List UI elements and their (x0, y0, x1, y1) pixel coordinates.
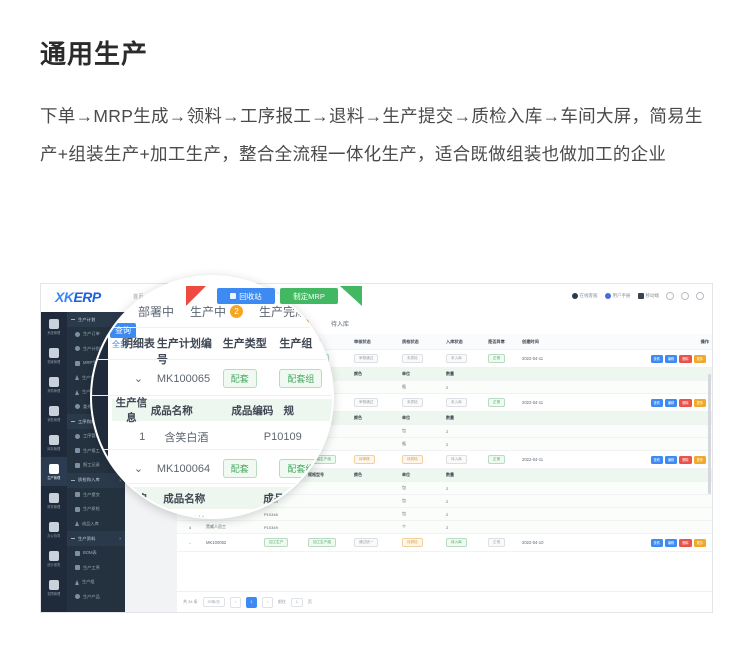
mrp-icon (75, 361, 80, 366)
lens-status-badge: 14 (311, 305, 324, 318)
next-page-button[interactable]: › (262, 597, 273, 608)
pagination: 共 34 条 20条/页 ‹ 1 › 前往 1 页 (177, 591, 712, 612)
cell-qc: 未质检 (402, 354, 423, 363)
lens-detail-code: P10109 (244, 431, 332, 443)
outsource-icon (75, 404, 80, 409)
detail-unit: 个 (399, 524, 443, 530)
lens-table-header: 明细表 生产计划编号 生产类型 生产组 (120, 335, 332, 367)
lens-tab-label: 生产完成 (259, 303, 307, 320)
detail-qty: 2 (443, 442, 485, 447)
menu-item-label: 生产产品 (83, 594, 100, 600)
lens-sub-info: 信息 (112, 491, 163, 506)
topbar-actions: 在线客服 用户手册 移动端 (572, 292, 705, 300)
detail-code: P10349 (261, 525, 305, 530)
lens-detail-row: 1 含笑白酒 P10109 (120, 429, 332, 445)
rail-item-permission[interactable]: 权限管理 (41, 573, 67, 602)
col-stock: 入库状态 (443, 339, 485, 345)
cell-qc: 待质检 (402, 538, 423, 547)
rail-item-inventory[interactable]: 库存管理 (41, 428, 67, 457)
doc-icon (49, 522, 59, 532)
user-icon[interactable] (696, 292, 704, 300)
lens-cell-type: 配套 (223, 459, 257, 478)
cell-abnormal: 正常 (488, 538, 505, 547)
grid-icon (49, 348, 59, 358)
detail-qty: 2 (443, 486, 485, 491)
detail-qty: 2 (443, 525, 485, 530)
delete-button[interactable]: 删除 (679, 456, 691, 464)
row-actions: 查看 编辑 删除 更多 (577, 355, 712, 363)
product-icon (75, 594, 80, 599)
detail-unit: 包 (399, 498, 443, 504)
menu-item-group[interactable]: 生产组 (67, 575, 125, 590)
collapse-icon (71, 421, 75, 422)
lens-cell-type: 配套 (223, 369, 257, 388)
menu-item-label: 生产工序 (83, 565, 100, 571)
lens-tab-completed[interactable]: 生产完成14 (259, 303, 324, 320)
chat-icon (49, 406, 59, 416)
cell-stock: 未入库 (446, 398, 467, 407)
cell-code: MK100052 (203, 540, 261, 545)
lens-tab-deploying[interactable]: 部署中 (138, 303, 174, 320)
sub-col-qty: 数量 (443, 415, 485, 421)
refresh-icon[interactable] (666, 292, 674, 300)
sub-col-qty: 数量 (443, 472, 485, 478)
cell-stock: 待入库 (446, 455, 467, 464)
trash-icon (230, 293, 236, 299)
logo-xk: XK (55, 289, 73, 305)
page-title: 通用生产 (40, 34, 710, 71)
submit-icon (75, 492, 80, 497)
menu-group-label: 生产资料 (78, 536, 96, 542)
promo-description: 下单→MRP生成→领料→工序报工→退料→生产提交→质检入库→车间大屏，简易生产+… (40, 97, 712, 173)
create-mrp-label: 制定MRP (293, 291, 325, 302)
recycle-bin-button[interactable]: 回收站 (217, 288, 275, 304)
lens-col-code: 生产计划编号 (157, 335, 223, 367)
col-qc: 质检状态 (399, 339, 443, 345)
arrow-left-decoration (186, 286, 206, 306)
sub-col-color: 颜色 (351, 472, 399, 478)
support-button[interactable]: 在线客服 (572, 293, 598, 299)
lens-sub-info: 生产信息 (112, 395, 151, 425)
menu-item-bom[interactable]: BOM表 (67, 546, 125, 561)
lens-col-type: 生产类型 (223, 335, 280, 367)
detail-unit: 包 (399, 485, 443, 491)
prev-page-button[interactable]: ‹ (230, 597, 241, 608)
lens-tabs: 部署中 生产中2 生产完成14 待入 (138, 303, 334, 320)
cell-qc: 待质检 (402, 455, 423, 464)
cart-icon (49, 377, 59, 387)
rail-label: 生产管理 (48, 475, 61, 480)
edit-button[interactable]: 编辑 (665, 539, 677, 547)
lens-detail-name: 含笑白酒 (164, 429, 243, 445)
lens-cell-code: MK100064 (157, 463, 223, 475)
mobile-label: 移动端 (646, 293, 660, 299)
sub-col-unit: 单位 (399, 371, 443, 377)
more-button[interactable]: 更多 (694, 539, 706, 547)
wallet-icon (49, 493, 59, 503)
page-size-select[interactable]: 20条/页 (203, 597, 225, 607)
rail-item-office[interactable]: 办公协同 (41, 515, 67, 544)
detail-unit: 包 (399, 428, 443, 434)
chart-icon (49, 551, 59, 561)
create-mrp-button[interactable]: 制定MRP (280, 288, 338, 304)
lens-sub-code: 成品编码 (211, 403, 283, 418)
row-actions: 查看 编辑 删除 更多 (577, 456, 712, 464)
lens-expand-icon[interactable]: ⌄ (120, 462, 157, 475)
return-icon (75, 390, 79, 395)
cell-audit: 通过统一 (354, 538, 378, 547)
rail-item-finance[interactable]: 财务管理 (41, 486, 67, 515)
menu-item-product[interactable]: 生产产品 (67, 590, 125, 605)
col-audit: 审核状态 (351, 339, 399, 345)
expand-icon[interactable]: ⌄ (177, 540, 203, 546)
sub-col-color: 颜色 (351, 371, 399, 377)
detail-qty: 2 (443, 512, 485, 517)
lens-sub-name: 成品名称 (151, 403, 212, 418)
rail-item-system[interactable]: 系统管理 (41, 312, 67, 341)
cell-type: 加工生产 (264, 538, 288, 547)
lens-tab-label: 部署中 (138, 303, 174, 320)
detail-row: 4 黑威人员工 P10349 个 2 (177, 521, 712, 534)
goto-label: 前往 (278, 599, 286, 605)
pick-icon (75, 375, 79, 380)
lens-rail (92, 277, 108, 517)
view-button[interactable]: 查看 (651, 399, 663, 407)
mobile-icon (638, 293, 644, 299)
view-button[interactable]: 查看 (651, 355, 663, 363)
promo-section: 通用生产 下单→MRP生成→领料→工序报工→退料→生产提交→质检入库→车间大屏，… (0, 0, 750, 173)
detail-unit: 包 (399, 511, 443, 517)
sub-col-unit: 单位 (399, 472, 443, 478)
collapse-icon (71, 480, 75, 481)
menu-item-label: BOM表 (83, 550, 97, 556)
cell-audit: 审核通过 (354, 354, 378, 363)
lens-detail-header: 生产信息 成品名称 成品编码 规 (112, 399, 332, 421)
edit-button[interactable]: 编辑 (665, 355, 677, 363)
col-time: 创建时间 (519, 339, 577, 345)
table-row[interactable]: ⌄ MK100052 加工生产 加工生产组 通过统一 待质检 待入库 正常 20… (177, 534, 712, 552)
lens-col-detail: 明细表 (120, 335, 157, 367)
rail-label: 权限管理 (48, 591, 61, 596)
icon-rail: 系统管理 档案管理 采购管理 销售管理 库存管理 生产管理 财务管理 办公协同 … (41, 312, 67, 612)
detail-qty: 2 (443, 499, 485, 504)
record-icon (75, 463, 80, 468)
lens-table-row[interactable]: ⌄ MK100064 配套 配套组 (120, 459, 332, 478)
rail-label: 财务管理 (48, 504, 61, 509)
bom-icon (75, 551, 80, 556)
detail-name: 黑威人员工 (203, 524, 261, 530)
cell-abnormal: 正常 (488, 398, 505, 407)
key-icon (49, 580, 59, 590)
edit-button[interactable]: 编辑 (665, 399, 677, 407)
view-button[interactable]: 查看 (651, 456, 663, 464)
cell-stock: 未入库 (446, 354, 467, 363)
edit-button[interactable]: 编辑 (665, 456, 677, 464)
lens-sub-name: 成品名称 (163, 491, 243, 506)
detail-unit: 瓶 (399, 384, 443, 390)
manual-button[interactable]: 用户手册 (605, 293, 631, 299)
cell-audit: 待审核 (354, 455, 375, 464)
rail-label: 销售管理 (48, 417, 61, 422)
box-icon (49, 435, 59, 445)
sub-col-unit: 单位 (399, 415, 443, 421)
collapse-icon (71, 319, 75, 320)
rail-label: 系统管理 (48, 330, 61, 335)
sub-col-qty: 数量 (443, 371, 485, 377)
mobile-button[interactable]: 移动端 (638, 293, 660, 299)
support-label: 在线客服 (580, 293, 598, 299)
rail-item-purchase[interactable]: 采购管理 (41, 370, 67, 399)
lens-sub-spec: 规 (284, 403, 332, 418)
lens-cell-code: MK100065 (157, 373, 223, 385)
instock-icon (75, 521, 79, 526)
menu-item-instock[interactable]: 成品入库 (67, 517, 125, 532)
cell-abnormal: 正常 (488, 455, 505, 464)
lens-content: 查询 全部 部署中 生产中2 生产完成14 待入 明细表 生产计划编号 生产类型… (92, 277, 332, 517)
lens-detail-header: 信息 成品名称 成品编码 (112, 487, 332, 509)
plan-icon (75, 346, 80, 351)
cell-audit: 审核通过 (354, 398, 378, 407)
goto-input[interactable]: 1 (291, 598, 303, 607)
menu-item-label: 生产组 (82, 579, 95, 585)
gears-icon (49, 464, 59, 474)
recycle-bin-label: 回收站 (239, 291, 262, 302)
chevron-down-icon: › (119, 536, 121, 541)
lens-table-row[interactable]: ⌄ MK100065 配套 配套组 (120, 369, 332, 388)
magnifier-lens: 查询 全部 部署中 生产中2 生产完成14 待入 明细表 生产计划编号 生产类型… (90, 275, 334, 519)
menu-item-proc-list[interactable]: 生产工序 (67, 561, 125, 576)
cell-time: 2022-04-11 (519, 400, 577, 405)
tab-label: 待入库 (331, 319, 349, 328)
process-icon (75, 434, 80, 439)
headset-icon (572, 293, 578, 299)
view-button[interactable]: 查看 (651, 539, 663, 547)
rail-item-report[interactable]: 统计报表 (41, 544, 67, 573)
lens-status-badge: 2 (230, 305, 243, 318)
rail-item-sales[interactable]: 销售管理 (41, 399, 67, 428)
rail-item-production[interactable]: 生产管理 (41, 457, 67, 486)
col-actions: 操作 (577, 339, 712, 345)
lens-cell-group: 配套组 (279, 369, 322, 388)
lens-sub-code: 成品编码 (243, 491, 332, 506)
cell-group: 加工生产组 (308, 538, 336, 547)
cell-abnormal: 正常 (488, 354, 505, 363)
order-icon (75, 332, 80, 337)
reportwork-icon (75, 448, 80, 453)
detail-no: 4 (177, 525, 203, 530)
rail-label: 办公协同 (48, 533, 61, 538)
cell-stock: 待入库 (446, 538, 467, 547)
tab-pending-stock[interactable]: 待入库 (331, 319, 349, 328)
book-icon (605, 293, 611, 299)
collapse-icon (71, 538, 75, 539)
lens-expand-icon[interactable]: ⌄ (120, 372, 157, 385)
delete-button[interactable]: 删除 (679, 399, 691, 407)
monitor-icon (49, 319, 59, 329)
row-actions: 查看 编辑 删除 更多 (577, 539, 712, 547)
current-page-button[interactable]: 1 (246, 597, 257, 608)
total-count: 共 34 条 (183, 599, 198, 605)
cell-qc: 未质检 (402, 398, 423, 407)
row-actions: 查看 编辑 删除 更多 (577, 399, 712, 407)
vertical-scrollbar[interactable] (708, 374, 711, 494)
lens-col-group: 生产组 (279, 335, 332, 367)
cell-time: 2022-04-10 (519, 540, 577, 545)
detail-unit: 瓶 (399, 441, 443, 447)
qc-icon (75, 507, 80, 512)
arrow-right-decoration (340, 286, 362, 306)
gear-icon[interactable] (681, 292, 689, 300)
detail-qty: 2 (443, 429, 485, 434)
lens-detail-no: 1 (120, 431, 164, 443)
group-icon (75, 580, 79, 585)
detail-qty: 2 (443, 385, 485, 390)
manual-label: 用户手册 (613, 293, 631, 299)
rail-label: 档案管理 (48, 359, 61, 364)
rail-label: 统计报表 (48, 562, 61, 567)
more-button[interactable]: 更多 (694, 399, 706, 407)
delete-button[interactable]: 删除 (679, 539, 691, 547)
rail-label: 采购管理 (48, 388, 61, 393)
rail-label: 库存管理 (48, 446, 61, 451)
cell-time: 2022-04-11 (519, 356, 577, 361)
more-button[interactable]: 更多 (694, 355, 706, 363)
lens-cell-group: 配套组 (279, 459, 322, 478)
more-button[interactable]: 更多 (694, 456, 706, 464)
proclist-icon (75, 565, 80, 570)
col-abnormal: 是否异常 (485, 339, 519, 345)
page-unit-label: 页 (308, 599, 312, 605)
delete-button[interactable]: 删除 (679, 355, 691, 363)
sub-col-color: 颜色 (351, 415, 399, 421)
menu-item-label: 成品入库 (82, 521, 99, 527)
cell-time: 2022-04-11 (519, 457, 577, 462)
rail-item-archive[interactable]: 档案管理 (41, 341, 67, 370)
menu-group-data[interactable]: 生产资料› (67, 531, 125, 546)
